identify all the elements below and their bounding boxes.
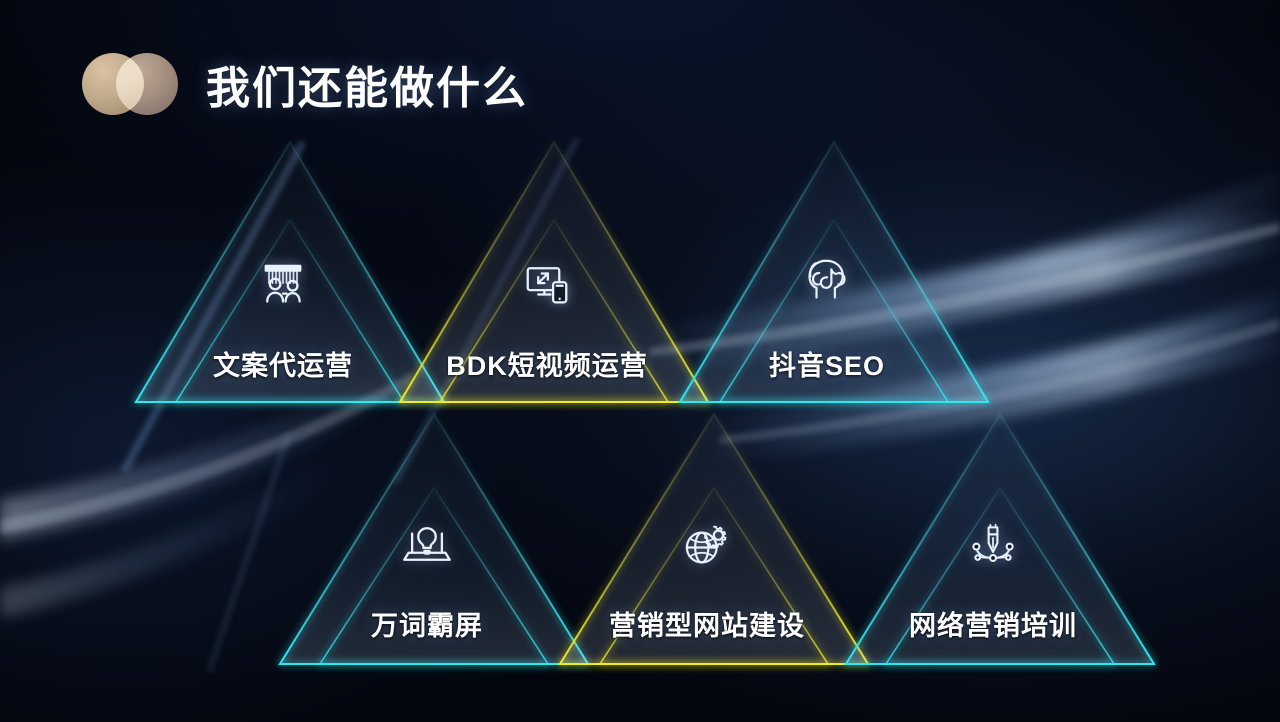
- service-card-marketing-training[interactable]: 网络营销培训: [828, 408, 1158, 670]
- head-headphones-music-note-icon: [799, 252, 855, 308]
- service-label: 万词霸屏: [371, 604, 483, 643]
- globe-gear-icon: [679, 516, 735, 572]
- service-triangle-grid: 文案代运营: [0, 0, 1280, 722]
- service-label: 抖音SEO: [769, 344, 885, 383]
- service-label: BDK短视频运营: [446, 344, 648, 383]
- slide-canvas: 我们还能做什么: [0, 0, 1280, 722]
- service-card-douyin-seo[interactable]: 抖音SEO: [662, 136, 992, 408]
- service-label: 网络营销培训: [909, 604, 1077, 643]
- monitor-phone-responsive-icon: [519, 256, 575, 312]
- service-card-marketing-website[interactable]: 营销型网站建设: [542, 408, 872, 670]
- copywriting-team-icon: [255, 256, 311, 312]
- laptop-lightbulb-icon: [399, 516, 455, 572]
- service-label: 营销型网站建设: [609, 604, 805, 643]
- pen-tool-nodes-icon: [965, 516, 1021, 572]
- service-label: 文案代运营: [213, 344, 353, 383]
